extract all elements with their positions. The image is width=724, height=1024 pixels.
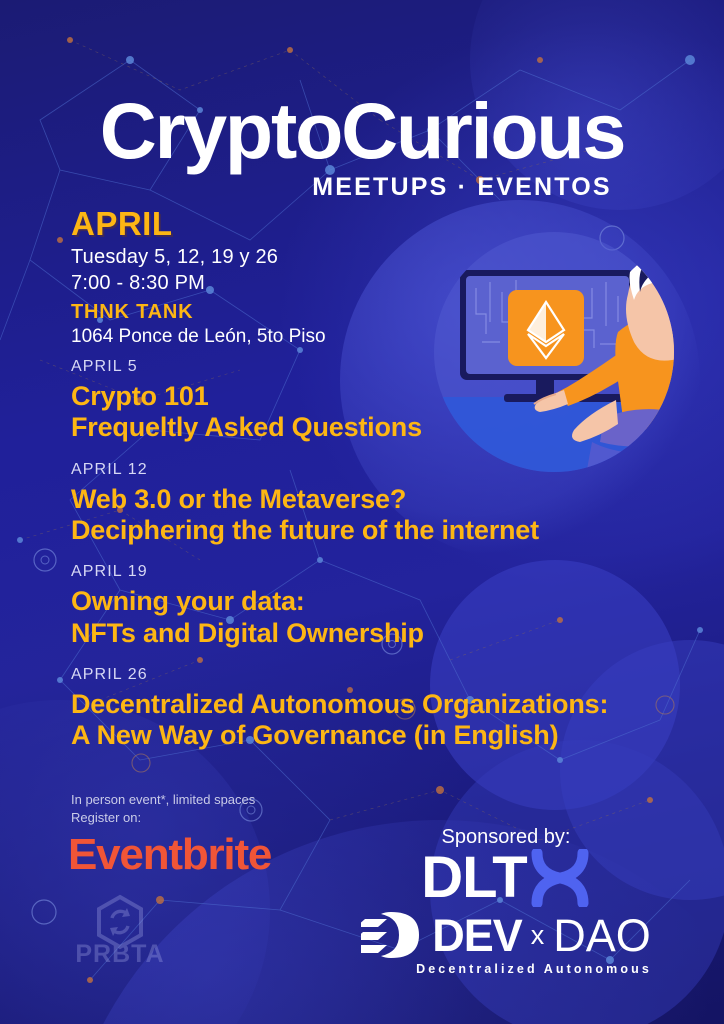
registration-note: In person event*, limited spaces Registe…: [71, 792, 255, 828]
devdao-layers-icon: [361, 909, 423, 961]
dao-wordmark: DAO: [553, 913, 651, 958]
session-date: APRIL 19: [71, 563, 671, 581]
session-item: APRIL 12 Web 3.0 or the Metaverse? Decip…: [71, 461, 671, 547]
session-item: APRIL 26 Decentralized Autonomous Organi…: [71, 666, 671, 752]
dev-wordmark: DEV: [432, 913, 522, 958]
session-title-line2: A New Way of Governance (in English): [71, 720, 671, 751]
venue-address: 1064 Ponce de León, 5to Piso: [71, 326, 326, 348]
prbta-watermark: PRBTA: [60, 893, 180, 969]
session-title-line1: Crypto 101: [71, 381, 671, 412]
eventbrite-logo[interactable]: Eventbrite: [68, 830, 271, 880]
session-title-line1: Web 3.0 or the Metaverse?: [71, 484, 671, 515]
session-title-line1: Owning your data:: [71, 586, 671, 617]
page-title: CryptoCurious: [0, 92, 724, 169]
session-item: APRIL 19 Owning your data: NFTs and Digi…: [71, 563, 671, 649]
devdao-tagline: Decentralized Autonomous: [316, 962, 696, 976]
session-date: APRIL 5: [71, 358, 671, 376]
schedule-time: 7:00 - 8:30 PM: [71, 272, 326, 295]
x-icon: [529, 849, 591, 907]
session-title-line2: Frequeltly Asked Questions: [71, 412, 671, 443]
sponsors-section: Sponsored by: DLT DEV x DAO Decentralize…: [316, 826, 696, 976]
session-date: APRIL 12: [71, 461, 671, 479]
session-date: APRIL 26: [71, 666, 671, 684]
schedule-days: Tuesday 5, 12, 19 y 26: [71, 246, 326, 269]
dlt-logo: DLT: [316, 849, 696, 907]
session-title-line2: NFTs and Digital Ownership: [71, 618, 671, 649]
schedule-details: APRIL Tuesday 5, 12, 19 y 26 7:00 - 8:30…: [71, 205, 326, 348]
month-heading: APRIL: [71, 205, 326, 243]
poster-subtitle: MEETUPS · EVENTOS: [0, 173, 724, 202]
devdao-logo: DEV x DAO: [316, 909, 696, 961]
session-item: APRIL 5 Crypto 101 Frequeltly Asked Ques…: [71, 358, 671, 444]
session-title-line1: Decentralized Autonomous Organizations:: [71, 689, 671, 720]
devdao-x-separator: x: [531, 920, 545, 951]
prbta-label: PRBTA: [60, 940, 180, 969]
session-list: APRIL 5 Crypto 101 Frequeltly Asked Ques…: [71, 358, 671, 769]
registration-disclaimer: In person event*, limited spaces: [71, 792, 255, 807]
dlt-wordmark: DLT: [421, 849, 526, 907]
session-title-line2: Deciphering the future of the internet: [71, 515, 671, 546]
registration-cta: Register on:: [71, 810, 255, 825]
venue-name: THNK TANK: [71, 301, 326, 324]
event-poster: CryptoCurious MEETUPS · EVENTOS APRIL Tu…: [0, 0, 724, 1024]
poster-header: CryptoCurious MEETUPS · EVENTOS: [0, 92, 724, 202]
